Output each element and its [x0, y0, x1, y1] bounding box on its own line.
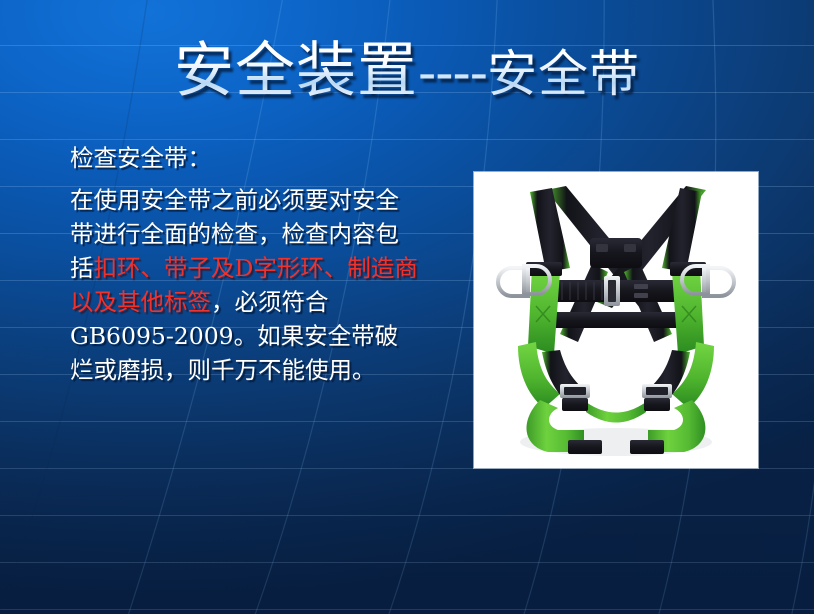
harness-photo-panel — [474, 172, 758, 468]
title-dash: ---- — [418, 41, 487, 104]
presentation-slide: 安全装置----安全带 检查安全带： 在使用安全带之前必须要对安全带进行全面的检… — [0, 0, 814, 614]
title-main-text: 安全装置 — [174, 36, 418, 106]
title-sub-text: 安全带 — [487, 45, 640, 103]
slide-title: 安全装置----安全带 — [0, 34, 814, 106]
body-heading: 检查安全带： — [70, 141, 420, 175]
safety-harness-image — [474, 172, 758, 468]
body-paragraph: 在使用安全带之前必须要对安全带进行全面的检查，检查内容包括扣环、带子及D字形环、… — [70, 183, 420, 387]
slide-body-text: 检查安全带： 在使用安全带之前必须要对安全带进行全面的检查，检查内容包括扣环、带… — [70, 141, 420, 387]
